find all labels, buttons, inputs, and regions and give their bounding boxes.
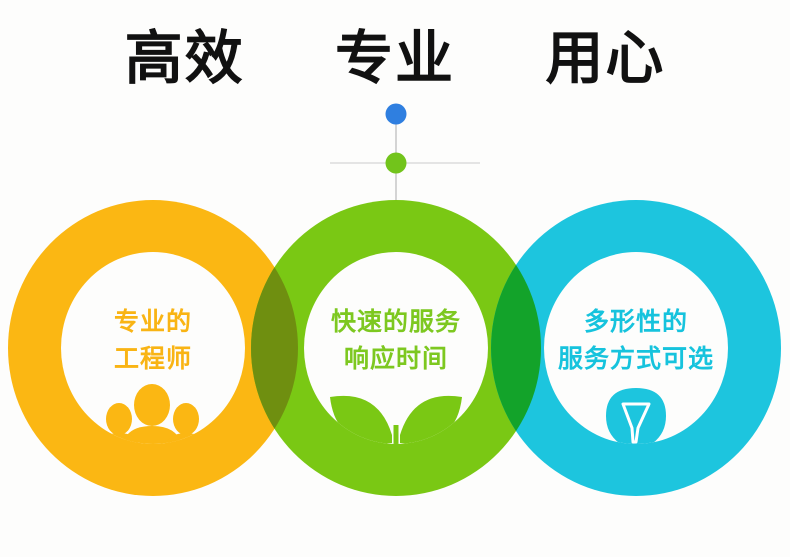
circle-label-response-time-line1: 快速的服务: [331, 307, 461, 336]
circle-label-service-modes-line2: 服务方式可选: [516, 340, 756, 377]
poster-canvas: 高效 专业 用心: [0, 0, 790, 557]
circle-label-engineers-line1: 专业的: [114, 307, 192, 336]
circle-label-response-time-line2: 响应时间: [276, 340, 516, 377]
venn-rings: [0, 0, 790, 557]
overlap-green-cyan: [0, 0, 790, 557]
circle-label-engineers-line2: 工程师: [33, 340, 273, 377]
circle-label-response-time: 快速的服务 响应时间: [276, 303, 516, 377]
circle-label-service-modes-line1: 多形性的: [584, 307, 688, 336]
circle-label-service-modes: 多形性的 服务方式可选: [516, 303, 756, 377]
circle-label-engineers: 专业的 工程师: [33, 303, 273, 377]
